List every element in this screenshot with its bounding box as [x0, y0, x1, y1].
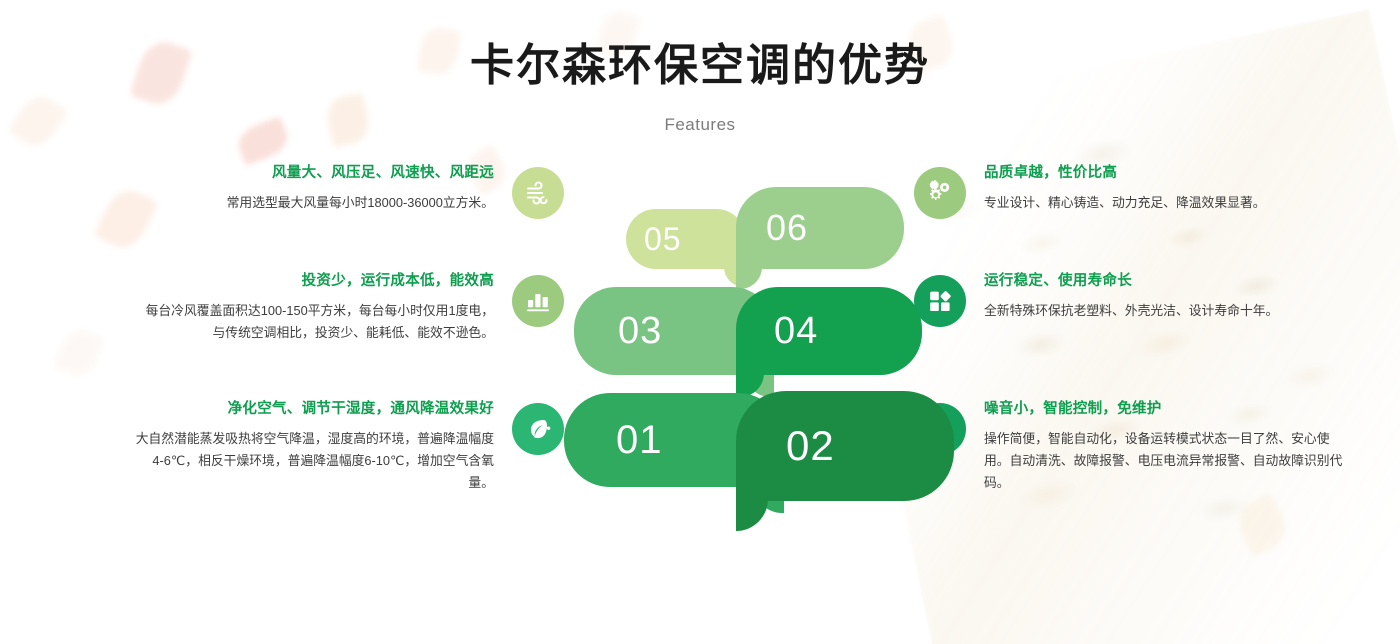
leaf-06[interactable]: 06	[736, 187, 904, 269]
features-page: 卡尔森环保空调的优势 Features 风量大、风压足、风速快、风距远 常用选型…	[0, 0, 1400, 644]
feature-title: 投资少，运行成本低，能效高	[134, 271, 494, 293]
leaf-02[interactable]: 02	[736, 391, 954, 501]
feature-text: 品质卓越，性价比高 专业设计、精心铸造、动力充足、降温效果显著。	[984, 163, 1344, 214]
feature-item-stability[interactable]: 运行稳定、使用寿命长 全新特殊环保抗老塑料、外壳光洁、设计寿命十年。	[914, 271, 1344, 383]
feature-description: 操作简便，智能自动化，设备运转模式状态一目了然、安心使用。自动清洗、故障报警、电…	[984, 428, 1344, 494]
leaf-number: 03	[618, 310, 662, 353]
feature-description: 每台冷风覆盖面积达100-150平方米，每台每小时仅用1度电，与传统空调相比，投…	[134, 300, 494, 344]
feature-text: 投资少，运行成本低，能效高 每台冷风覆盖面积达100-150平方米，每台每小时仅…	[134, 271, 494, 344]
leaf-tail	[736, 267, 762, 289]
right-feature-column: 品质卓越，性价比高 专业设计、精心铸造、动力充足、降温效果显著。	[904, 163, 1344, 527]
leaf-number: 04	[774, 310, 818, 353]
feature-item-noise[interactable]: 噪音小，智能控制，免维护 操作简便，智能自动化，设备运转模式状态一目了然、安心使…	[914, 399, 1344, 511]
leaf-04[interactable]: 04	[736, 287, 922, 375]
page-subtitle: Features	[0, 115, 1400, 135]
feature-title: 品质卓越，性价比高	[984, 163, 1344, 185]
left-feature-column: 风量大、风压足、风速快、风距远 常用选型最大风量每小时18000-36000立方…	[56, 163, 564, 527]
leaf-number: 06	[766, 207, 808, 249]
feature-title: 净化空气、调节干湿度，通风降温效果好	[134, 399, 494, 421]
bar-chart-icon	[512, 275, 564, 327]
wind-icon	[512, 167, 564, 219]
feature-text: 运行稳定、使用寿命长 全新特殊环保抗老塑料、外壳光洁、设计寿命十年。	[984, 271, 1344, 322]
leaf-icon	[512, 403, 564, 455]
feature-item-wind[interactable]: 风量大、风压足、风速快、风距远 常用选型最大风量每小时18000-36000立方…	[134, 163, 564, 255]
leaf-number-tree: 05 06 03 04 01	[564, 169, 904, 549]
leaf-05[interactable]: 05	[626, 209, 746, 269]
feature-description: 全新特殊环保抗老塑料、外壳光洁、设计寿命十年。	[984, 300, 1344, 322]
feature-text: 风量大、风压足、风速快、风距远 常用选型最大风量每小时18000-36000立方…	[134, 163, 494, 214]
feature-text: 净化空气、调节干湿度，通风降温效果好 大自然潜能蒸发吸热将空气降温，湿度高的环境…	[134, 399, 494, 494]
page-title: 卡尔森环保空调的优势	[0, 38, 1400, 93]
feature-description: 专业设计、精心铸造、动力充足、降温效果显著。	[984, 192, 1344, 214]
features-content: 风量大、风压足、风速快、风距远 常用选型最大风量每小时18000-36000立方…	[0, 163, 1400, 549]
feature-item-quality[interactable]: 品质卓越，性价比高 专业设计、精心铸造、动力充足、降温效果显著。	[914, 163, 1344, 255]
feature-title: 运行稳定、使用寿命长	[984, 271, 1344, 293]
feature-description: 常用选型最大风量每小时18000-36000立方米。	[134, 192, 494, 214]
feature-item-cost[interactable]: 投资少，运行成本低，能效高 每台冷风覆盖面积达100-150平方米，每台每小时仅…	[134, 271, 564, 383]
feature-item-air[interactable]: 净化空气、调节干湿度，通风降温效果好 大自然潜能蒸发吸热将空气降温，湿度高的环境…	[134, 399, 564, 511]
leaf-tail	[736, 499, 768, 531]
feature-title: 风量大、风压足、风速快、风距远	[134, 163, 494, 185]
feature-title: 噪音小，智能控制，免维护	[984, 399, 1344, 421]
gears-icon	[914, 167, 966, 219]
feature-text: 噪音小，智能控制，免维护 操作简便，智能自动化，设备运转模式状态一目了然、安心使…	[984, 399, 1344, 494]
bottom-spacer	[0, 549, 1400, 609]
page-header: 卡尔森环保空调的优势 Features	[0, 0, 1400, 135]
blocks-icon	[914, 275, 966, 327]
feature-description: 大自然潜能蒸发吸热将空气降温，湿度高的环境，普遍降温幅度4-6℃，相反干燥环境，…	[134, 428, 494, 494]
leaf-number: 01	[616, 418, 663, 463]
leaf-number: 02	[786, 422, 835, 470]
leaf-number: 05	[644, 221, 682, 258]
